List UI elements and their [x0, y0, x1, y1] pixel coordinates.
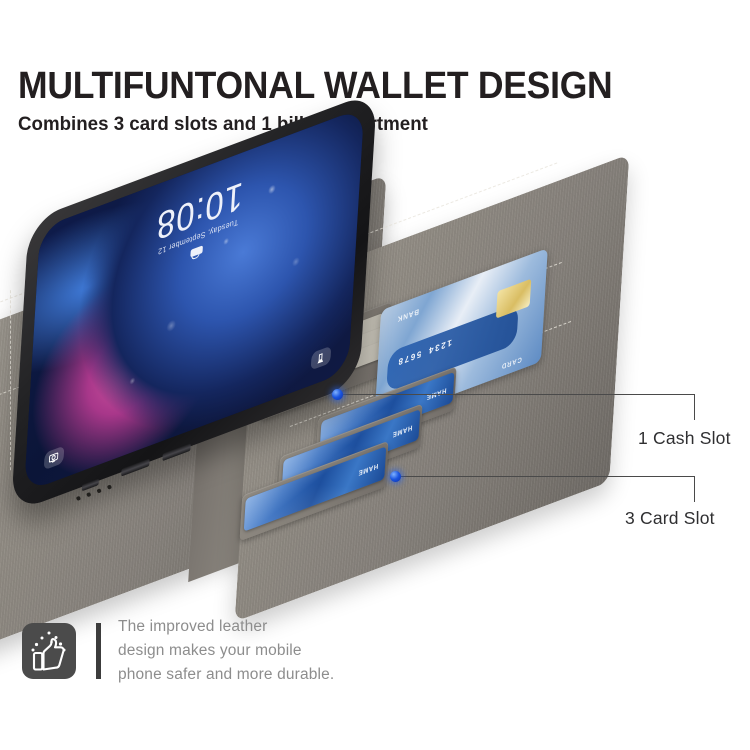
card-slot-marker: [390, 471, 401, 482]
page-title: MULTIFUNTONAL WALLET DESIGN: [18, 66, 673, 106]
card-slot-leader-horizontal: [398, 476, 695, 477]
thumbs-up-icon: [22, 623, 76, 679]
feature-text: The improved leather design makes your m…: [118, 615, 334, 687]
cash-slot-leader-vertical: [694, 394, 695, 420]
card-bank-name: BANK: [397, 307, 419, 323]
stitch-line: [10, 290, 11, 470]
lock-icon: [191, 245, 204, 260]
callout-label-cash-slot: 1 Cash Slot: [638, 428, 731, 449]
product-photo: 100 BANK 1234 5678 CARD HAME HAME HAME: [0, 160, 640, 580]
lock-time: 10:08: [36, 129, 363, 292]
card-slot-leader-vertical: [694, 476, 695, 502]
cash-slot-leader-horizontal: [340, 394, 695, 395]
flashlight-icon[interactable]: [311, 346, 332, 371]
divider: [96, 623, 101, 679]
cash-slot-marker: [332, 389, 343, 400]
feature-text-line: phone safer and more durable.: [118, 663, 334, 687]
card-label: HAME: [358, 461, 379, 476]
feature-text-line: design makes your mobile: [118, 639, 334, 663]
card-label: HAME: [392, 423, 413, 438]
callout-label-card-slot: 3 Card Slot: [625, 508, 715, 529]
feature-block: The improved leather design makes your m…: [22, 615, 334, 687]
feature-text-line: The improved leather: [118, 615, 334, 639]
card-holder: CARD: [501, 355, 522, 370]
camera-icon[interactable]: [44, 445, 65, 470]
